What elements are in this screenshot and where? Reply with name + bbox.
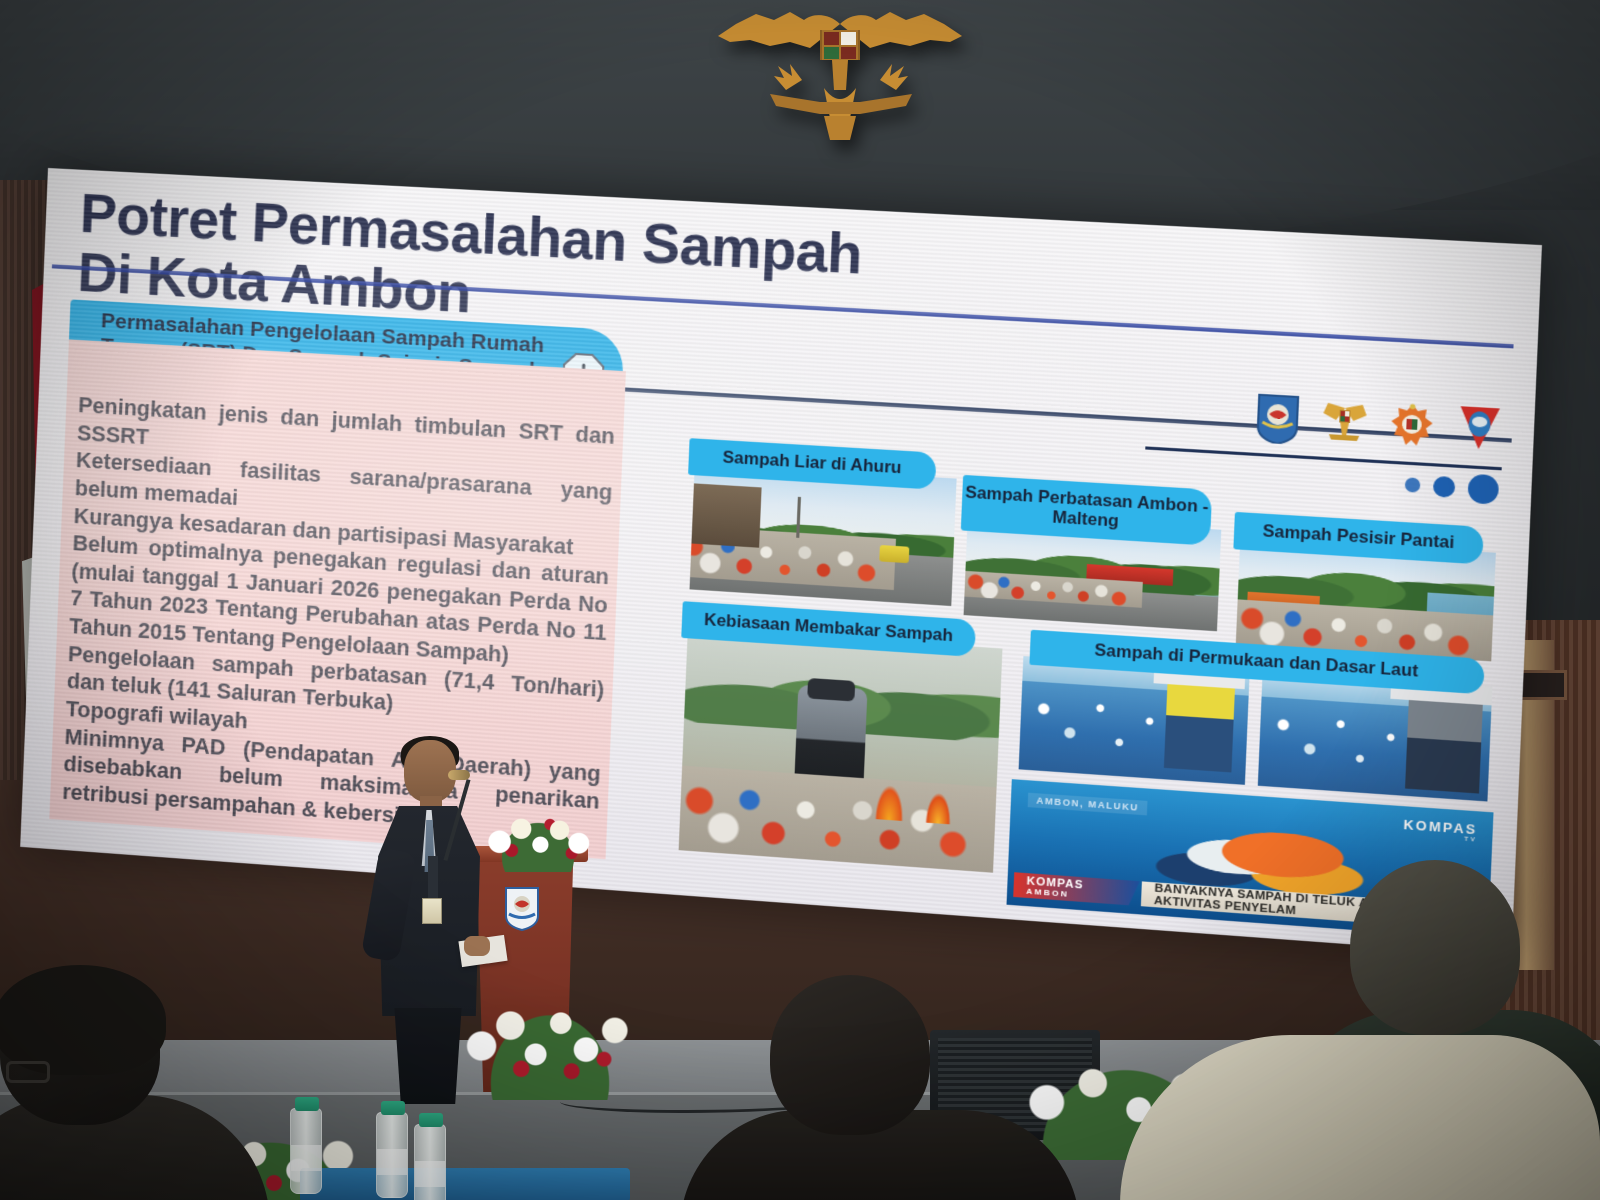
presenter-legs bbox=[388, 1008, 468, 1104]
decorative-dots bbox=[1404, 470, 1499, 505]
bottle-cap bbox=[419, 1113, 443, 1127]
audience-head bbox=[770, 975, 930, 1135]
bottle-label bbox=[415, 1161, 445, 1187]
photo-worker bbox=[1164, 677, 1236, 773]
presenter-hand bbox=[464, 936, 490, 956]
bottle-cap bbox=[381, 1101, 405, 1115]
audience-front-center bbox=[700, 975, 1040, 1200]
garuda-pancasila-wall-emblem bbox=[700, 0, 980, 150]
water-bottle bbox=[414, 1124, 446, 1200]
photo-worker bbox=[1405, 695, 1483, 794]
dot-small bbox=[1405, 477, 1421, 492]
presentation-slide: Potret Permasalahan Sampah Di Kota Ambon bbox=[20, 168, 1542, 956]
logo-garuda-pancasila bbox=[1320, 394, 1370, 449]
water-bottle bbox=[376, 1112, 408, 1198]
logo-kota-ambon bbox=[1387, 398, 1437, 453]
bottle-label bbox=[377, 1149, 407, 1175]
dot-large bbox=[1467, 474, 1499, 505]
photo-flame bbox=[875, 784, 905, 822]
presenter-lanyard bbox=[428, 856, 438, 902]
presenter-id-badge bbox=[422, 898, 442, 924]
institution-logos bbox=[1253, 390, 1504, 456]
audience-head bbox=[1350, 860, 1520, 1035]
photo-flame bbox=[925, 792, 952, 825]
photo-shack bbox=[691, 483, 761, 548]
conference-room-photo: Potret Permasalahan Sampah Di Kota Ambon bbox=[0, 0, 1600, 1200]
podium-microphone bbox=[448, 770, 470, 780]
logo-provinsi-maluku bbox=[1253, 390, 1303, 445]
dot-medium bbox=[1433, 476, 1456, 498]
logo-badge-merah bbox=[1454, 402, 1504, 457]
bottle-cap bbox=[295, 1097, 319, 1111]
podium-flower-arrangement bbox=[478, 800, 598, 872]
podium-emblem-kemendagri bbox=[504, 886, 540, 932]
water-bottle bbox=[290, 1108, 322, 1194]
problem-list: Peningkatan jenis dan jumlah timbulan SR… bbox=[62, 392, 616, 845]
photo-yellow-vehicle bbox=[879, 545, 909, 563]
stage-flower-arrangement bbox=[460, 980, 640, 1100]
foreground-blue-tray bbox=[300, 1168, 630, 1200]
bottle-label bbox=[291, 1145, 321, 1171]
audience-hair bbox=[0, 965, 166, 1075]
photo-kebiasaan-membakar-sampah bbox=[679, 628, 1003, 873]
photo-person-cap bbox=[807, 678, 855, 701]
projection-screen: Potret Permasalahan Sampah Di Kota Ambon bbox=[20, 168, 1542, 956]
audience-front-left bbox=[0, 975, 260, 1200]
audience-glasses bbox=[6, 1061, 50, 1083]
